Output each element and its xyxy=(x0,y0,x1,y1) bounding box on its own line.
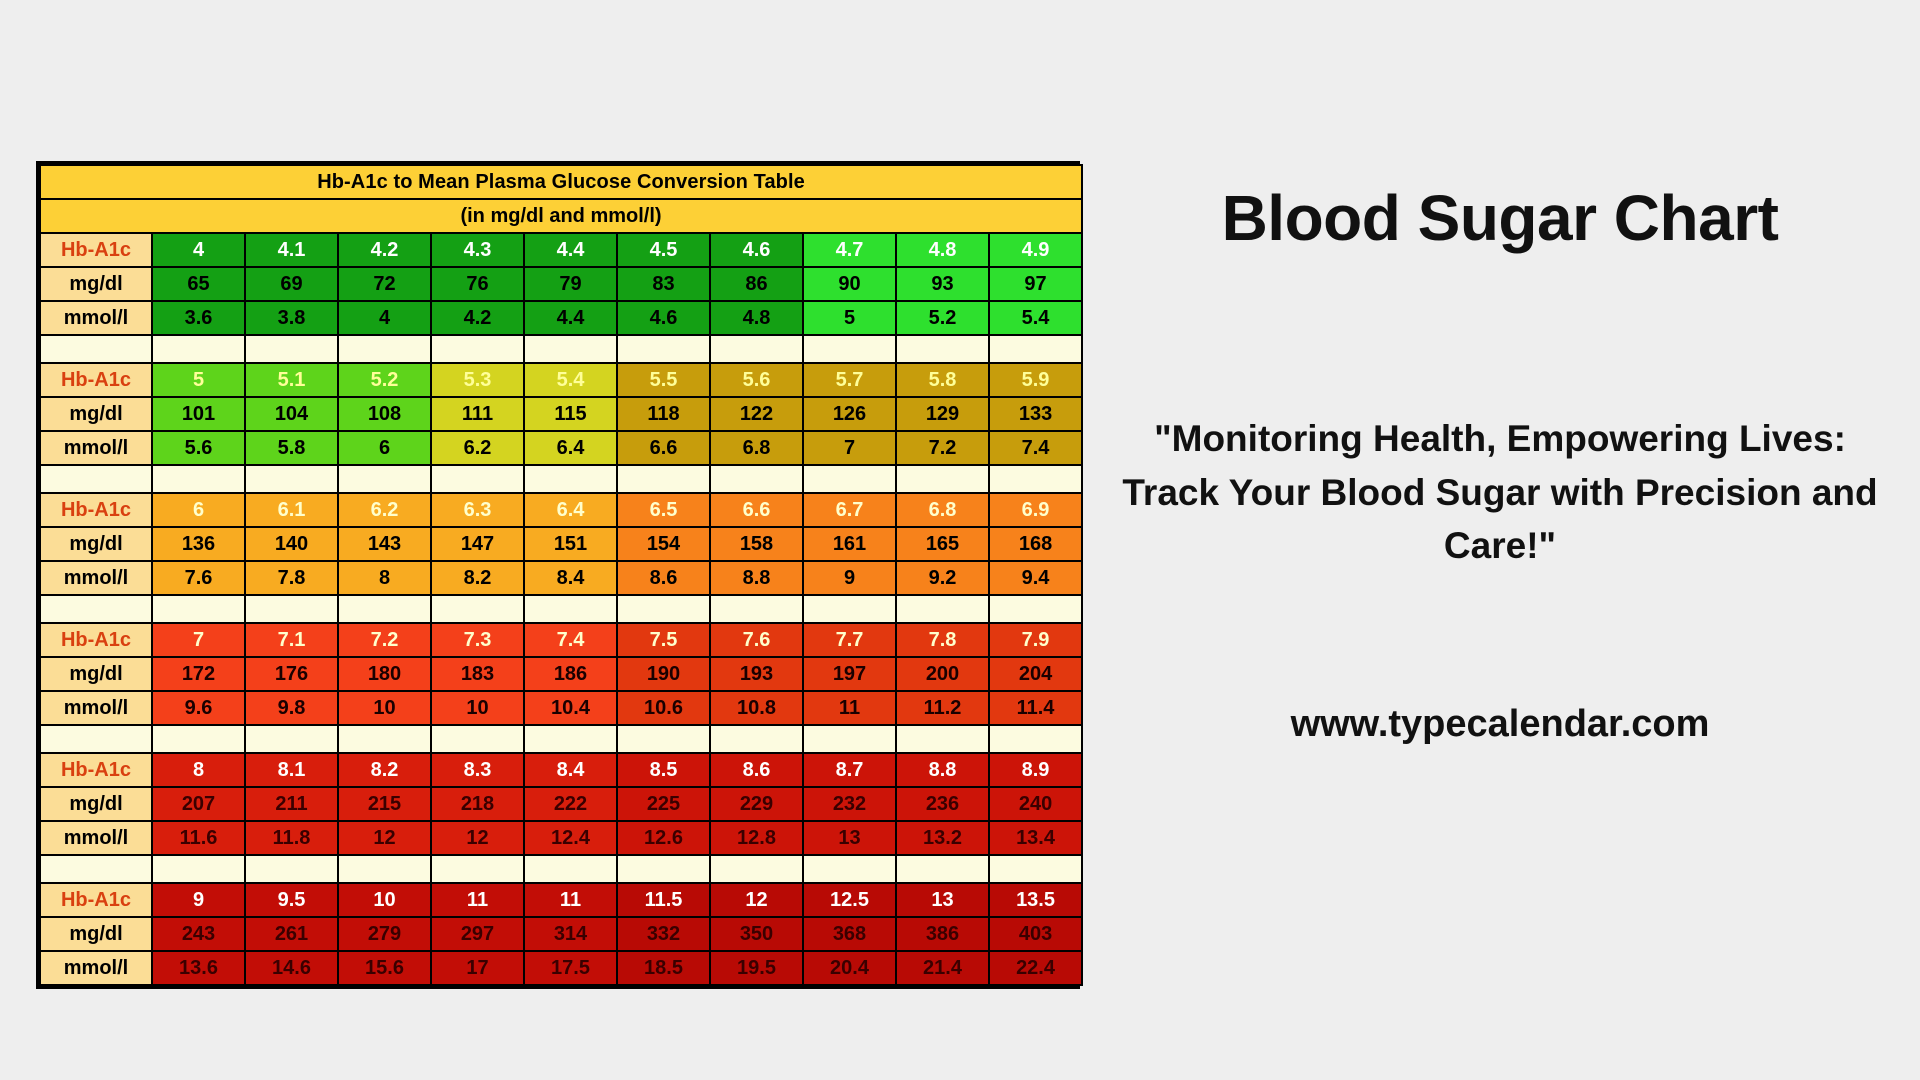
cell-block-9-mmol: 17 xyxy=(431,951,524,985)
spacer-cell xyxy=(896,335,989,363)
cell-block-4-mmol: 4.2 xyxy=(431,301,524,335)
table-row: mg/dl101104108111115118122126129133 xyxy=(40,397,1082,431)
cell-block-8-hba1c: 8 xyxy=(152,753,245,787)
cell-block-7-hba1c: 7.2 xyxy=(338,623,431,657)
cell-block-5-mgdl: 101 xyxy=(152,397,245,431)
row-label-mmol: mmol/l xyxy=(40,691,152,725)
cell-block-7-mmol: 11 xyxy=(803,691,896,725)
spacer-cell xyxy=(989,595,1082,623)
cell-block-7-mgdl: 176 xyxy=(245,657,338,691)
cell-block-4-hba1c: 4 xyxy=(152,233,245,267)
spacer-cell xyxy=(710,725,803,753)
cell-block-7-mmol: 9.8 xyxy=(245,691,338,725)
cell-block-4-hba1c: 4.8 xyxy=(896,233,989,267)
cell-block-8-mgdl: 211 xyxy=(245,787,338,821)
spacer-cell xyxy=(245,725,338,753)
cell-block-4-mmol: 4.8 xyxy=(710,301,803,335)
table-spacer-row xyxy=(40,595,1082,623)
cell-block-7-hba1c: 7.9 xyxy=(989,623,1082,657)
cell-block-7-mgdl: 193 xyxy=(710,657,803,691)
cell-block-5-hba1c: 5.6 xyxy=(710,363,803,397)
row-label-mgdl: mg/dl xyxy=(40,397,152,431)
cell-block-9-hba1c: 11.5 xyxy=(617,883,710,917)
cell-block-8-mgdl: 236 xyxy=(896,787,989,821)
cell-block-4-hba1c: 4.3 xyxy=(431,233,524,267)
spacer-cell xyxy=(40,465,152,493)
cell-block-5-hba1c: 5.4 xyxy=(524,363,617,397)
cell-block-5-mgdl: 129 xyxy=(896,397,989,431)
cell-block-5-hba1c: 5.9 xyxy=(989,363,1082,397)
cell-block-8-mmol: 12 xyxy=(431,821,524,855)
spacer-cell xyxy=(524,595,617,623)
table-row: Hb-A1c77.17.27.37.47.57.67.77.87.9 xyxy=(40,623,1082,657)
table-row: mmol/l13.614.615.61717.518.519.520.421.4… xyxy=(40,951,1082,985)
table-spacer-row xyxy=(40,855,1082,883)
spacer-cell xyxy=(431,335,524,363)
table-row: mg/dl136140143147151154158161165168 xyxy=(40,527,1082,561)
spacer-cell xyxy=(710,335,803,363)
table-spacer-row xyxy=(40,725,1082,753)
cell-block-9-mgdl: 403 xyxy=(989,917,1082,951)
cell-block-4-hba1c: 4.5 xyxy=(617,233,710,267)
cell-block-6-hba1c: 6.9 xyxy=(989,493,1082,527)
cell-block-9-mgdl: 332 xyxy=(617,917,710,951)
row-label-hba1c: Hb-A1c xyxy=(40,363,152,397)
cell-block-6-mgdl: 140 xyxy=(245,527,338,561)
cell-block-6-mmol: 8.6 xyxy=(617,561,710,595)
cell-block-6-mgdl: 147 xyxy=(431,527,524,561)
cell-block-5-mgdl: 126 xyxy=(803,397,896,431)
cell-block-9-mgdl: 350 xyxy=(710,917,803,951)
spacer-cell xyxy=(338,465,431,493)
cell-block-5-hba1c: 5.1 xyxy=(245,363,338,397)
table-row: mmol/l7.67.888.28.48.68.899.29.4 xyxy=(40,561,1082,595)
cell-block-5-mmol: 6.2 xyxy=(431,431,524,465)
cell-block-4-mmol: 5 xyxy=(803,301,896,335)
cell-block-7-mgdl: 190 xyxy=(617,657,710,691)
cell-block-9-hba1c: 10 xyxy=(338,883,431,917)
cell-block-9-hba1c: 9 xyxy=(152,883,245,917)
cell-block-8-hba1c: 8.2 xyxy=(338,753,431,787)
cell-block-5-hba1c: 5 xyxy=(152,363,245,397)
cell-block-8-mmol: 12.6 xyxy=(617,821,710,855)
cell-block-6-hba1c: 6.4 xyxy=(524,493,617,527)
cell-block-6-mgdl: 154 xyxy=(617,527,710,561)
cell-block-5-mgdl: 115 xyxy=(524,397,617,431)
cell-block-8-mgdl: 240 xyxy=(989,787,1082,821)
spacer-cell xyxy=(989,465,1082,493)
cell-block-6-mmol: 9.2 xyxy=(896,561,989,595)
row-label-mmol: mmol/l xyxy=(40,431,152,465)
table-row: mg/dl65697276798386909397 xyxy=(40,267,1082,301)
cell-block-7-hba1c: 7.1 xyxy=(245,623,338,657)
table-subtitle-row: (in mg/dl and mmol/l) xyxy=(40,199,1082,233)
cell-block-6-hba1c: 6.6 xyxy=(710,493,803,527)
cell-block-7-mgdl: 200 xyxy=(896,657,989,691)
spacer-cell xyxy=(152,465,245,493)
cell-block-7-mmol: 10.6 xyxy=(617,691,710,725)
cell-block-7-mmol: 10.4 xyxy=(524,691,617,725)
table-row: mg/dl207211215218222225229232236240 xyxy=(40,787,1082,821)
cell-block-8-hba1c: 8.8 xyxy=(896,753,989,787)
spacer-cell xyxy=(617,465,710,493)
cell-block-8-hba1c: 8.1 xyxy=(245,753,338,787)
row-label-hba1c: Hb-A1c xyxy=(40,623,152,657)
cell-block-4-mgdl: 65 xyxy=(152,267,245,301)
cell-block-4-hba1c: 4.6 xyxy=(710,233,803,267)
spacer-cell xyxy=(896,465,989,493)
cell-block-4-mgdl: 93 xyxy=(896,267,989,301)
cell-block-5-hba1c: 5.5 xyxy=(617,363,710,397)
spacer-cell xyxy=(431,595,524,623)
conversion-table: Hb-A1c to Mean Plasma Glucose Conversion… xyxy=(39,164,1083,986)
row-label-mmol: mmol/l xyxy=(40,951,152,985)
spacer-cell xyxy=(245,335,338,363)
cell-block-9-mgdl: 314 xyxy=(524,917,617,951)
cell-block-6-mgdl: 165 xyxy=(896,527,989,561)
cell-block-8-mmol: 13 xyxy=(803,821,896,855)
cell-block-8-hba1c: 8.7 xyxy=(803,753,896,787)
cell-block-6-mgdl: 143 xyxy=(338,527,431,561)
spacer-cell xyxy=(431,725,524,753)
spacer-cell xyxy=(40,595,152,623)
cell-block-7-hba1c: 7.4 xyxy=(524,623,617,657)
spacer-cell xyxy=(431,465,524,493)
page-title: Blood Sugar Chart xyxy=(1105,185,1895,252)
cell-block-4-mgdl: 79 xyxy=(524,267,617,301)
cell-block-5-mmol: 6.8 xyxy=(710,431,803,465)
spacer-cell xyxy=(152,335,245,363)
tagline: "Monitoring Health, Empowering Lives: Tr… xyxy=(1105,412,1895,573)
cell-block-8-mgdl: 229 xyxy=(710,787,803,821)
cell-block-8-mmol: 13.2 xyxy=(896,821,989,855)
cell-block-5-mmol: 7 xyxy=(803,431,896,465)
page-root: Hb-A1c to Mean Plasma Glucose Conversion… xyxy=(0,0,1920,1080)
cell-block-6-mmol: 8.2 xyxy=(431,561,524,595)
cell-block-4-mmol: 5.4 xyxy=(989,301,1082,335)
cell-block-7-mmol: 9.6 xyxy=(152,691,245,725)
cell-block-6-mgdl: 161 xyxy=(803,527,896,561)
row-label-hba1c: Hb-A1c xyxy=(40,883,152,917)
row-label-mmol: mmol/l xyxy=(40,301,152,335)
cell-block-4-mmol: 4 xyxy=(338,301,431,335)
cell-block-9-mmol: 13.6 xyxy=(152,951,245,985)
cell-block-8-mmol: 12.8 xyxy=(710,821,803,855)
cell-block-6-hba1c: 6.5 xyxy=(617,493,710,527)
row-label-mmol: mmol/l xyxy=(40,821,152,855)
row-label-mgdl: mg/dl xyxy=(40,527,152,561)
cell-block-9-mmol: 22.4 xyxy=(989,951,1082,985)
cell-block-4-mmol: 5.2 xyxy=(896,301,989,335)
cell-block-7-mmol: 11.2 xyxy=(896,691,989,725)
table-spacer-row xyxy=(40,335,1082,363)
cell-block-4-mgdl: 76 xyxy=(431,267,524,301)
spacer-cell xyxy=(989,335,1082,363)
table-row: mg/dl243261279297314332350368386403 xyxy=(40,917,1082,951)
cell-block-8-mgdl: 218 xyxy=(431,787,524,821)
cell-block-4-hba1c: 4.4 xyxy=(524,233,617,267)
cell-block-6-hba1c: 6.1 xyxy=(245,493,338,527)
cell-block-7-hba1c: 7.5 xyxy=(617,623,710,657)
spacer-cell xyxy=(617,335,710,363)
sidebar: Blood Sugar Chart "Monitoring Health, Em… xyxy=(1105,185,1895,746)
cell-block-9-mgdl: 279 xyxy=(338,917,431,951)
cell-block-9-hba1c: 11 xyxy=(524,883,617,917)
spacer-cell xyxy=(710,465,803,493)
cell-block-6-mmol: 8 xyxy=(338,561,431,595)
cell-block-4-hba1c: 4.7 xyxy=(803,233,896,267)
cell-block-9-mgdl: 368 xyxy=(803,917,896,951)
table-row: mmol/l5.65.866.26.46.66.877.27.4 xyxy=(40,431,1082,465)
cell-block-6-mmol: 7.6 xyxy=(152,561,245,595)
cell-block-9-mgdl: 243 xyxy=(152,917,245,951)
cell-block-6-mmol: 9 xyxy=(803,561,896,595)
cell-block-7-mgdl: 186 xyxy=(524,657,617,691)
spacer-cell xyxy=(803,335,896,363)
cell-block-4-hba1c: 4.2 xyxy=(338,233,431,267)
cell-block-8-hba1c: 8.3 xyxy=(431,753,524,787)
spacer-cell xyxy=(152,855,245,883)
cell-block-8-hba1c: 8.6 xyxy=(710,753,803,787)
spacer-cell xyxy=(896,855,989,883)
cell-block-6-mmol: 8.8 xyxy=(710,561,803,595)
cell-block-9-mgdl: 386 xyxy=(896,917,989,951)
spacer-cell xyxy=(245,465,338,493)
cell-block-9-hba1c: 9.5 xyxy=(245,883,338,917)
cell-block-6-mgdl: 136 xyxy=(152,527,245,561)
table-row: mg/dl172176180183186190193197200204 xyxy=(40,657,1082,691)
cell-block-7-mmol: 10 xyxy=(431,691,524,725)
cell-block-4-hba1c: 4.1 xyxy=(245,233,338,267)
cell-block-5-mgdl: 111 xyxy=(431,397,524,431)
cell-block-6-hba1c: 6.7 xyxy=(803,493,896,527)
cell-block-7-mmol: 11.4 xyxy=(989,691,1082,725)
cell-block-7-mgdl: 172 xyxy=(152,657,245,691)
cell-block-9-hba1c: 13 xyxy=(896,883,989,917)
spacer-cell xyxy=(431,855,524,883)
spacer-cell xyxy=(710,595,803,623)
cell-block-7-hba1c: 7.3 xyxy=(431,623,524,657)
cell-block-5-mmol: 6 xyxy=(338,431,431,465)
table-spacer-row xyxy=(40,465,1082,493)
cell-block-9-mmol: 21.4 xyxy=(896,951,989,985)
row-label-mgdl: mg/dl xyxy=(40,657,152,691)
cell-block-4-mgdl: 83 xyxy=(617,267,710,301)
spacer-cell xyxy=(617,855,710,883)
spacer-cell xyxy=(524,725,617,753)
spacer-cell xyxy=(40,855,152,883)
spacer-cell xyxy=(896,725,989,753)
spacer-cell xyxy=(803,725,896,753)
cell-block-9-mmol: 19.5 xyxy=(710,951,803,985)
cell-block-4-mmol: 4.6 xyxy=(617,301,710,335)
cell-block-9-mmol: 15.6 xyxy=(338,951,431,985)
cell-block-9-hba1c: 11 xyxy=(431,883,524,917)
cell-block-5-mgdl: 104 xyxy=(245,397,338,431)
cell-block-7-mgdl: 180 xyxy=(338,657,431,691)
spacer-cell xyxy=(803,595,896,623)
cell-block-9-mgdl: 261 xyxy=(245,917,338,951)
row-label-mmol: mmol/l xyxy=(40,561,152,595)
cell-block-9-hba1c: 12 xyxy=(710,883,803,917)
spacer-cell xyxy=(710,855,803,883)
cell-block-7-mgdl: 204 xyxy=(989,657,1082,691)
cell-block-7-hba1c: 7.6 xyxy=(710,623,803,657)
spacer-cell xyxy=(245,595,338,623)
table-row: mmol/l3.63.844.24.44.64.855.25.4 xyxy=(40,301,1082,335)
spacer-cell xyxy=(803,465,896,493)
cell-block-9-hba1c: 12.5 xyxy=(803,883,896,917)
website-link[interactable]: www.typecalendar.com xyxy=(1105,703,1895,746)
cell-block-5-mmol: 7.2 xyxy=(896,431,989,465)
cell-block-8-hba1c: 8.5 xyxy=(617,753,710,787)
spacer-cell xyxy=(338,335,431,363)
cell-block-4-mgdl: 90 xyxy=(803,267,896,301)
table-row: mmol/l11.611.8121212.412.612.81313.213.4 xyxy=(40,821,1082,855)
spacer-cell xyxy=(524,855,617,883)
cell-block-9-hba1c: 13.5 xyxy=(989,883,1082,917)
cell-block-6-mmol: 9.4 xyxy=(989,561,1082,595)
cell-block-6-mmol: 7.8 xyxy=(245,561,338,595)
cell-block-5-mgdl: 133 xyxy=(989,397,1082,431)
cell-block-5-hba1c: 5.7 xyxy=(803,363,896,397)
cell-block-8-hba1c: 8.9 xyxy=(989,753,1082,787)
spacer-cell xyxy=(245,855,338,883)
cell-block-6-hba1c: 6 xyxy=(152,493,245,527)
cell-block-4-mmol: 3.6 xyxy=(152,301,245,335)
spacer-cell xyxy=(524,335,617,363)
row-label-hba1c: Hb-A1c xyxy=(40,233,152,267)
cell-block-8-mmol: 13.4 xyxy=(989,821,1082,855)
spacer-cell xyxy=(989,725,1082,753)
cell-block-5-mmol: 6.6 xyxy=(617,431,710,465)
table-row: Hb-A1c88.18.28.38.48.58.68.78.88.9 xyxy=(40,753,1082,787)
cell-block-6-hba1c: 6.3 xyxy=(431,493,524,527)
cell-block-5-hba1c: 5.2 xyxy=(338,363,431,397)
row-label-mgdl: mg/dl xyxy=(40,917,152,951)
cell-block-8-hba1c: 8.4 xyxy=(524,753,617,787)
cell-block-6-hba1c: 6.8 xyxy=(896,493,989,527)
cell-block-9-mmol: 17.5 xyxy=(524,951,617,985)
cell-block-4-mgdl: 86 xyxy=(710,267,803,301)
cell-block-7-mmol: 10 xyxy=(338,691,431,725)
cell-block-8-mgdl: 232 xyxy=(803,787,896,821)
table-row: Hb-A1c99.510111111.51212.51313.5 xyxy=(40,883,1082,917)
cell-block-8-mgdl: 207 xyxy=(152,787,245,821)
cell-block-9-mgdl: 297 xyxy=(431,917,524,951)
spacer-cell xyxy=(152,725,245,753)
conversion-table-panel: Hb-A1c to Mean Plasma Glucose Conversion… xyxy=(36,161,1080,989)
cell-block-5-mmol: 5.8 xyxy=(245,431,338,465)
row-label-hba1c: Hb-A1c xyxy=(40,753,152,787)
spacer-cell xyxy=(338,595,431,623)
spacer-cell xyxy=(989,855,1082,883)
cell-block-8-mmol: 12.4 xyxy=(524,821,617,855)
cell-block-4-mmol: 4.4 xyxy=(524,301,617,335)
cell-block-8-mgdl: 215 xyxy=(338,787,431,821)
cell-block-9-mmol: 20.4 xyxy=(803,951,896,985)
spacer-cell xyxy=(40,725,152,753)
spacer-cell xyxy=(617,595,710,623)
cell-block-7-hba1c: 7 xyxy=(152,623,245,657)
cell-block-7-mmol: 10.8 xyxy=(710,691,803,725)
cell-block-8-mmol: 11.6 xyxy=(152,821,245,855)
spacer-cell xyxy=(524,465,617,493)
spacer-cell xyxy=(896,595,989,623)
cell-block-5-mmol: 5.6 xyxy=(152,431,245,465)
table-row: Hb-A1c44.14.24.34.44.54.64.74.84.9 xyxy=(40,233,1082,267)
cell-block-7-hba1c: 7.8 xyxy=(896,623,989,657)
cell-block-6-mgdl: 158 xyxy=(710,527,803,561)
table-row: mmol/l9.69.8101010.410.610.81111.211.4 xyxy=(40,691,1082,725)
cell-block-7-mgdl: 197 xyxy=(803,657,896,691)
spacer-cell xyxy=(617,725,710,753)
cell-block-6-mgdl: 151 xyxy=(524,527,617,561)
cell-block-6-mgdl: 168 xyxy=(989,527,1082,561)
cell-block-8-mmol: 11.8 xyxy=(245,821,338,855)
cell-block-4-mgdl: 72 xyxy=(338,267,431,301)
cell-block-8-mgdl: 225 xyxy=(617,787,710,821)
row-label-hba1c: Hb-A1c xyxy=(40,493,152,527)
table-title-row: Hb-A1c to Mean Plasma Glucose Conversion… xyxy=(40,165,1082,199)
cell-block-5-mmol: 6.4 xyxy=(524,431,617,465)
row-label-mgdl: mg/dl xyxy=(40,267,152,301)
spacer-cell xyxy=(152,595,245,623)
table-title: Hb-A1c to Mean Plasma Glucose Conversion… xyxy=(40,165,1082,199)
table-subtitle: (in mg/dl and mmol/l) xyxy=(40,199,1082,233)
cell-block-5-hba1c: 5.3 xyxy=(431,363,524,397)
cell-block-4-mmol: 3.8 xyxy=(245,301,338,335)
cell-block-6-hba1c: 6.2 xyxy=(338,493,431,527)
cell-block-4-mgdl: 97 xyxy=(989,267,1082,301)
cell-block-5-mgdl: 108 xyxy=(338,397,431,431)
table-row: Hb-A1c55.15.25.35.45.55.65.75.85.9 xyxy=(40,363,1082,397)
cell-block-9-mmol: 14.6 xyxy=(245,951,338,985)
spacer-cell xyxy=(338,855,431,883)
spacer-cell xyxy=(40,335,152,363)
row-label-mgdl: mg/dl xyxy=(40,787,152,821)
cell-block-6-mmol: 8.4 xyxy=(524,561,617,595)
spacer-cell xyxy=(338,725,431,753)
cell-block-9-mmol: 18.5 xyxy=(617,951,710,985)
cell-block-7-mgdl: 183 xyxy=(431,657,524,691)
cell-block-8-mmol: 12 xyxy=(338,821,431,855)
cell-block-4-hba1c: 4.9 xyxy=(989,233,1082,267)
table-row: Hb-A1c66.16.26.36.46.56.66.76.86.9 xyxy=(40,493,1082,527)
spacer-cell xyxy=(803,855,896,883)
cell-block-5-mgdl: 118 xyxy=(617,397,710,431)
cell-block-5-mgdl: 122 xyxy=(710,397,803,431)
cell-block-4-mgdl: 69 xyxy=(245,267,338,301)
cell-block-5-hba1c: 5.8 xyxy=(896,363,989,397)
cell-block-5-mmol: 7.4 xyxy=(989,431,1082,465)
cell-block-7-hba1c: 7.7 xyxy=(803,623,896,657)
cell-block-8-mgdl: 222 xyxy=(524,787,617,821)
